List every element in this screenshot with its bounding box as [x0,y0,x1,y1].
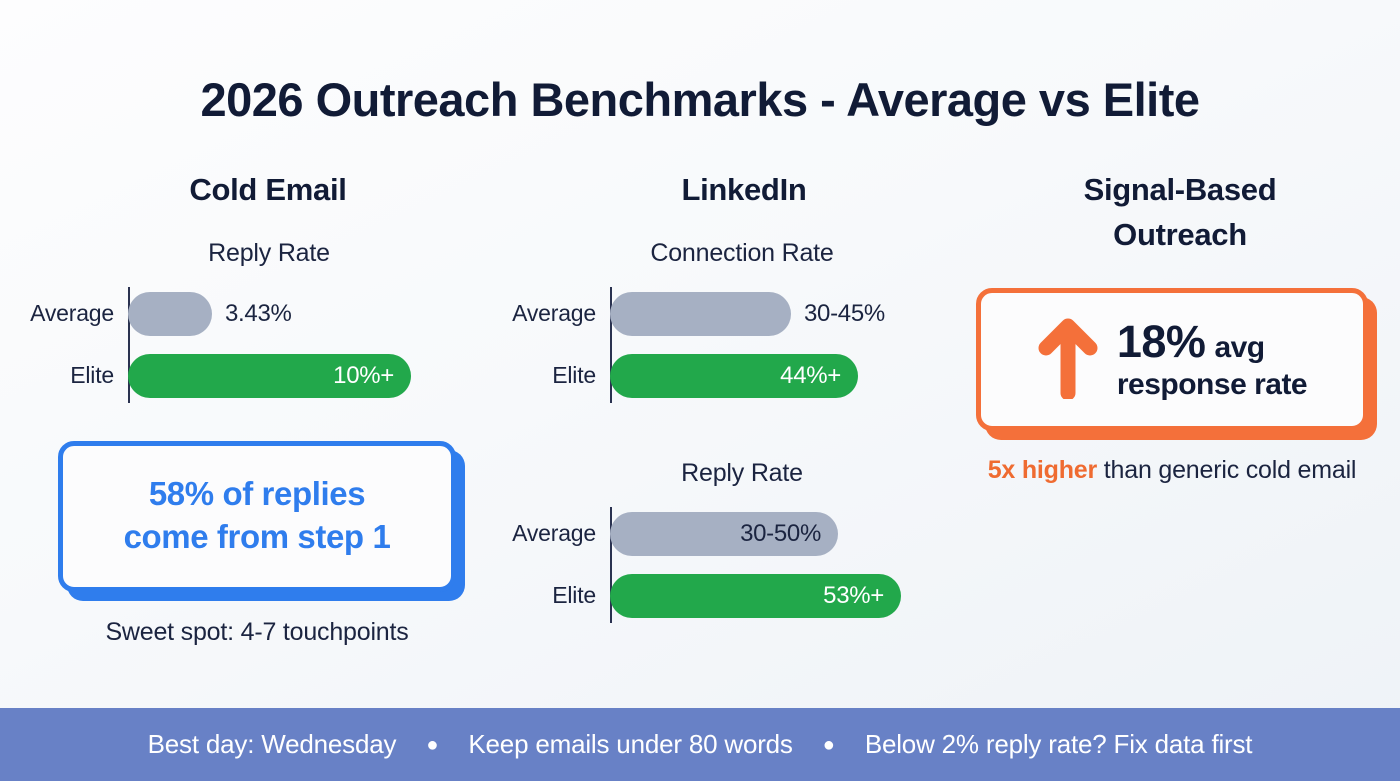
column-heading-cold-email: Cold Email [18,168,500,213]
bar-value-label: 44%+ [780,362,841,390]
page-title: 2026 Outreach Benchmarks - Average vs El… [0,0,1400,126]
bar-elite: 44%+ [610,354,858,398]
footer-tip-2: Keep emails under 80 words [468,729,792,760]
callout-line-1: 58% of replies [81,472,433,516]
chart-plot-area: Average 30-45% Elite 44%+ [500,287,970,403]
bar-value-label: 30-45% [804,300,885,328]
column-heading-linkedin: LinkedIn [500,168,970,213]
chart-title: Reply Rate [18,239,500,268]
bar-row-average: Average 3.43% [18,287,500,341]
chart-title: Connection Rate [500,239,970,268]
callout-card-response-rate: 18%avg response rate [976,288,1368,431]
bar-row-elite: Elite 53%+ [500,569,970,623]
bar-value-label: 3.43% [225,300,292,328]
bar-category-label: Average [500,520,610,547]
bar-average: 30-45% [610,292,791,336]
chart-cold-email-reply-rate: Reply Rate Average 3.43% Elite 10%+ [18,239,500,403]
column-signal-based-outreach: Signal-Based Outreach 18%avg response ra… [970,168,1380,647]
up-arrow-icon [1037,315,1099,404]
footer-tips-bar: Best day: Wednesday ● Keep emails under … [0,708,1400,781]
bar-category-label: Average [18,300,128,327]
footer-separator-icon: ● [426,735,438,755]
bar-value-label: 10%+ [333,362,394,390]
response-rate-stat: 18%avg response rate [1117,316,1307,403]
column-heading-signal: Signal-Based Outreach [970,168,1380,258]
column-heading-signal-line-2: Outreach [980,213,1380,258]
footer-tip-1: Best day: Wednesday [148,729,397,760]
chart-plot-area: Average 30-50% Elite 53%+ [500,507,970,623]
chart-title: Reply Rate [500,459,970,488]
bar-category-label: Elite [18,362,128,389]
bar-row-elite: Elite 44%+ [500,349,970,403]
footer-tip-3: Below 2% reply rate? Fix data first [865,729,1253,760]
sweet-spot-note: Sweet spot: 4-7 touchpoints [58,618,456,647]
response-rate-caption: response rate [1117,368,1307,401]
response-rate-unit: avg [1214,331,1264,364]
column-cold-email: Cold Email Reply Rate Average 3.43% Elit… [18,168,500,647]
signal-comparison-rest: than generic cold email [1097,456,1356,484]
column-linkedin: LinkedIn Connection Rate Average 30-45% … [500,168,970,647]
chart-linkedin-reply-rate: Reply Rate Average 30-50% Elite 53%+ [500,459,970,623]
bar-row-elite: Elite 10%+ [18,349,500,403]
columns-container: Cold Email Reply Rate Average 3.43% Elit… [0,168,1400,647]
bar-elite: 10%+ [128,354,411,398]
bar-category-label: Average [500,300,610,327]
bar-category-label: Elite [500,362,610,389]
chart-plot-area: Average 3.43% Elite 10%+ [18,287,500,403]
response-rate-value: 18% [1117,316,1206,367]
callout-line-2: come from step 1 [81,515,433,559]
signal-comparison-highlight: 5x higher [988,456,1097,484]
bar-average: 30-50% [610,512,838,556]
column-heading-signal-line-1: Signal-Based [980,168,1380,213]
bar-value-label: 53%+ [823,582,884,610]
bar-row-average: Average 30-45% [500,287,970,341]
bar-row-average: Average 30-50% [500,507,970,561]
callout-card-replies: 58% of replies come from step 1 [58,441,456,592]
footer-separator-icon: ● [823,735,835,755]
bar-category-label: Elite [500,582,610,609]
signal-comparison-note: 5x higher than generic cold email [976,453,1368,488]
chart-linkedin-connection-rate: Connection Rate Average 30-45% Elite 44%… [500,239,970,403]
bar-value-label: 30-50% [740,520,821,548]
bar-average: 3.43% [128,292,212,336]
bar-elite: 53%+ [610,574,901,618]
